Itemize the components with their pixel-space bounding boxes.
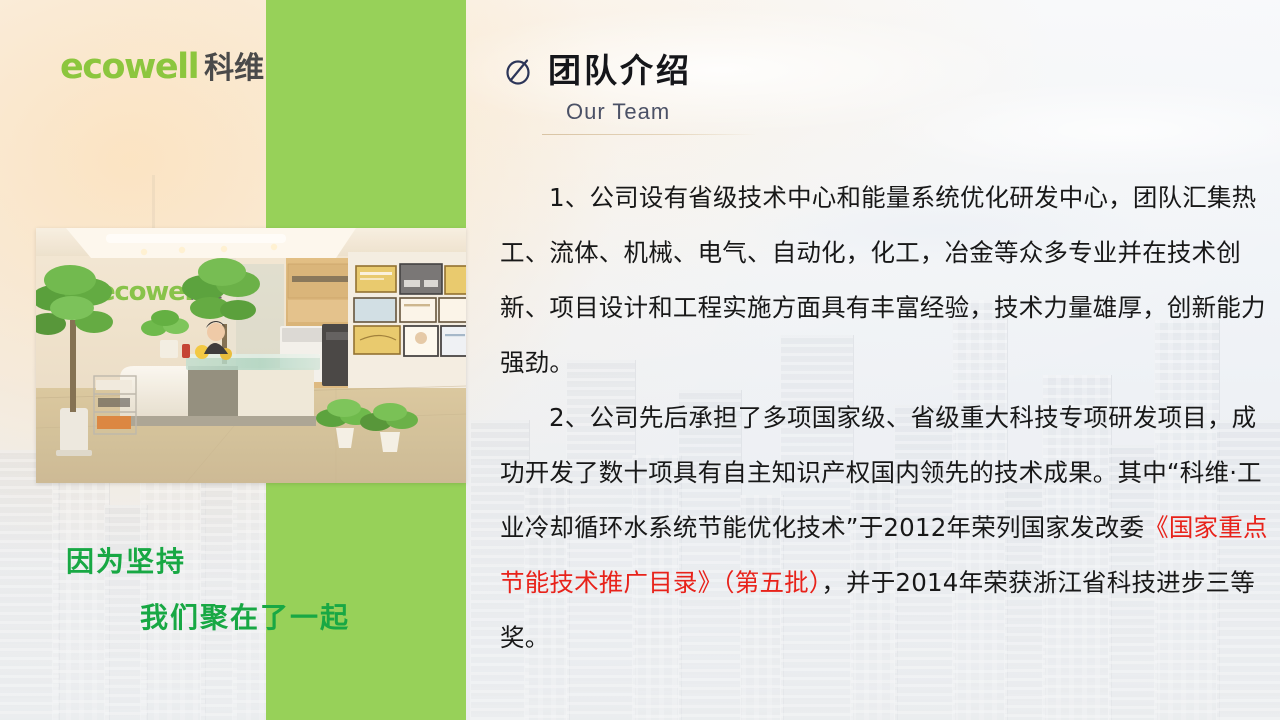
page-title: 团队介绍 xyxy=(548,54,692,87)
circle-slash-icon xyxy=(504,56,534,86)
paragraph-1: 1、公司设有省级技术中心和能量系统优化研发中心，团队汇集热工、流体、机械、电气、… xyxy=(500,170,1270,390)
logo-text-chinese: 科维 xyxy=(204,54,264,84)
slogan-block: 因为坚持 我们聚在了一起 xyxy=(0,548,466,668)
presentation-slide: ecowell 科维 xyxy=(0,0,1280,720)
page-subtitle: Our Team xyxy=(566,99,757,125)
title-divider xyxy=(542,134,757,135)
content-area: 团队介绍 Our Team 1、公司设有省级技术中心和能量系统优化研发中心，团队… xyxy=(466,0,1280,720)
paragraph-2: 2、公司先后承担了多项国家级、省级重大科技专项研发项目，成功开发了数十项具有自主… xyxy=(500,390,1270,665)
company-logo: ecowell 科维 xyxy=(60,50,264,85)
section-header: 团队介绍 Our Team xyxy=(504,54,757,135)
office-reception-photo: ecowell 科维 xyxy=(36,228,466,483)
body-text: 1、公司设有省级技术中心和能量系统优化研发中心，团队汇集热工、流体、机械、电气、… xyxy=(500,170,1270,665)
logo-text-english: ecowell xyxy=(60,50,198,85)
slogan-line-2: 我们聚在了一起 xyxy=(140,604,350,632)
slogan-line-1: 因为坚持 xyxy=(66,548,186,576)
